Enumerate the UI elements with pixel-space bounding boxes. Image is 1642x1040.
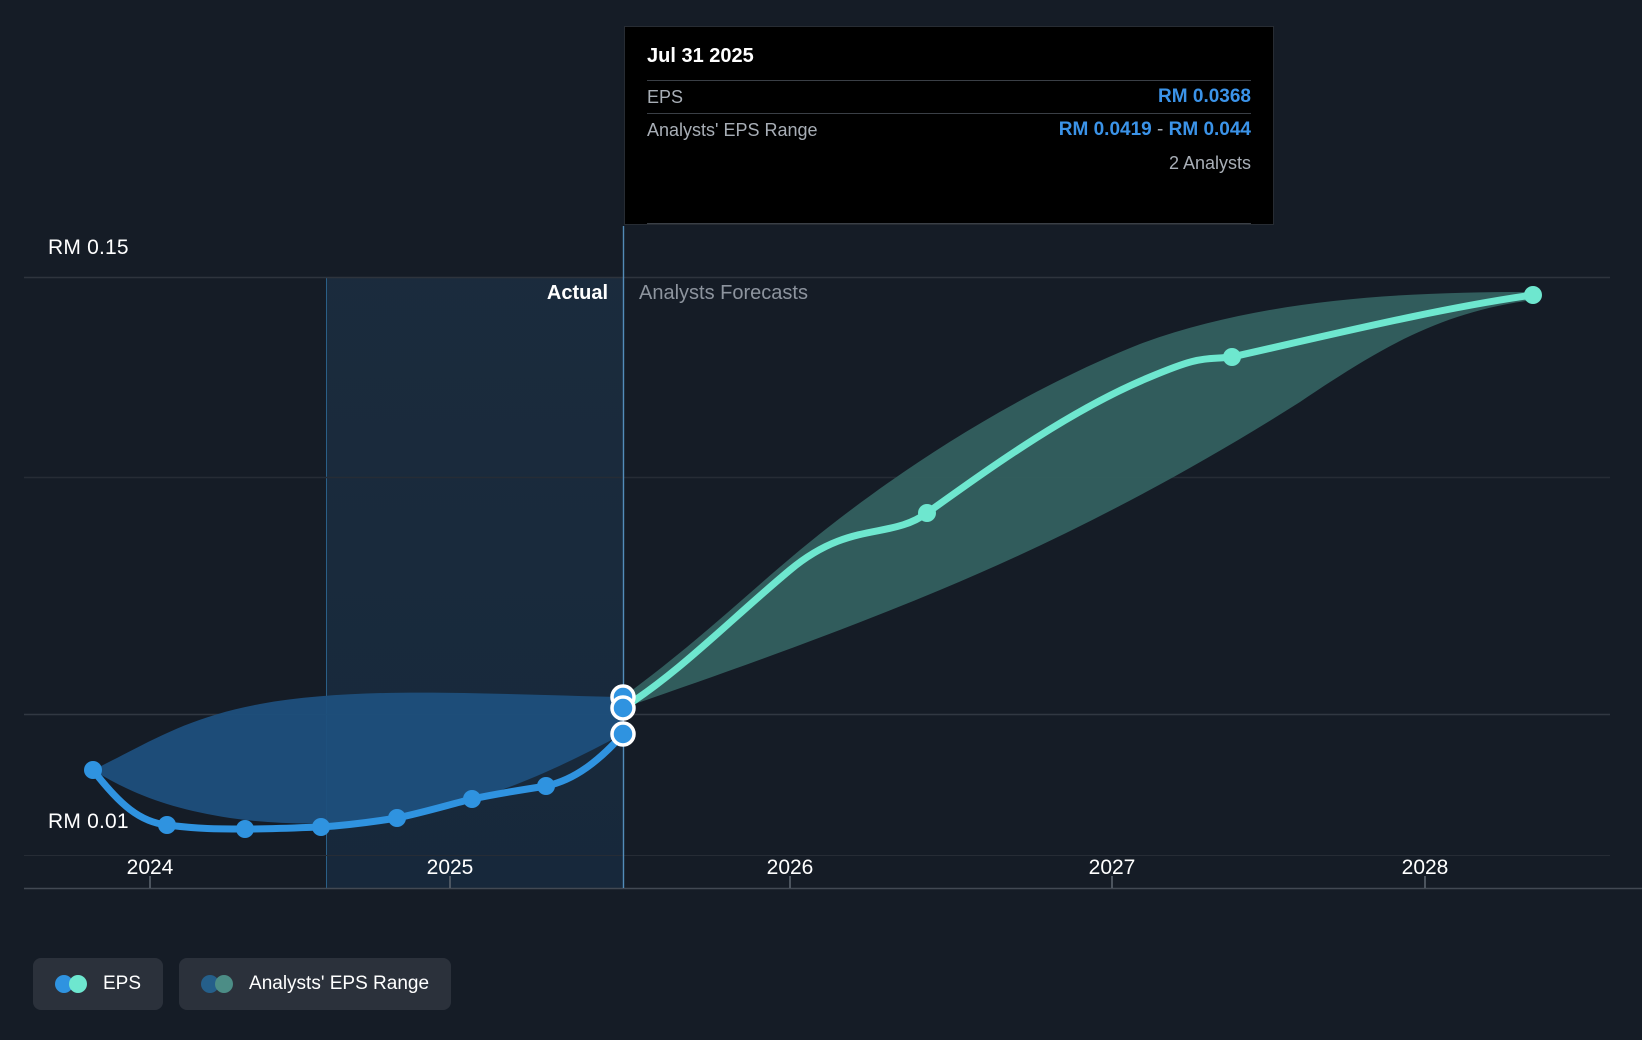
hover-highlight-points [612, 686, 634, 745]
legend-item-eps[interactable]: EPS [33, 958, 163, 1010]
tooltip-range-separator: - [1157, 119, 1163, 140]
legend-swatch-eps-icon [55, 975, 89, 993]
x-axis-tick-2025: 2025 [427, 856, 474, 880]
legend-label-eps: EPS [103, 973, 141, 995]
tooltip-range-high: RM 0.044 [1169, 119, 1251, 140]
tooltip-range-label: Analysts' EPS Range [647, 120, 818, 141]
tooltip-date: Jul 31 2025 [647, 45, 1251, 80]
tooltip-row-eps: EPS RM 0.0368 [647, 80, 1251, 113]
legend-item-analysts-range[interactable]: Analysts' EPS Range [179, 958, 451, 1010]
tooltip-range-value: RM 0.0419 - RM 0.044 [1059, 119, 1251, 141]
y-axis-label-top: RM 0.15 [48, 236, 129, 260]
tooltip-eps-label: EPS [647, 87, 683, 108]
y-axis-label-bottom: RM 0.01 [48, 810, 129, 834]
eps-forecast-chart: RM 0.15 RM 0.01 2024 2025 2026 2027 2028… [0, 0, 1642, 1040]
tooltip-row-range: Analysts' EPS Range RM 0.0419 - RM 0.044 [647, 113, 1251, 146]
hover-point-eps [612, 697, 634, 719]
x-axis-tick-2027: 2027 [1089, 856, 1136, 880]
actual-period-label: Actual [547, 282, 608, 305]
tooltip-eps-value: RM 0.0368 [1158, 86, 1251, 108]
x-axis-tick-2024: 2024 [127, 856, 174, 880]
hover-point-range-lower [612, 723, 634, 745]
x-axis-tick-2026: 2026 [767, 856, 814, 880]
chart-tooltip: Jul 31 2025 EPS RM 0.0368 Analysts' EPS … [624, 26, 1274, 225]
forecast-period-label: Analysts Forecasts [639, 282, 808, 305]
chart-legend: EPS Analysts' EPS Range [33, 958, 451, 1010]
x-axis-tick-2028: 2028 [1402, 856, 1449, 880]
forecast-range-band [623, 292, 1533, 708]
legend-label-analysts-range: Analysts' EPS Range [249, 973, 429, 995]
legend-swatch-range-icon [201, 975, 235, 993]
tooltip-range-low: RM 0.0419 [1059, 119, 1152, 140]
tooltip-analysts-count: 2 Analysts [647, 146, 1251, 174]
tooltip-bottom-rule [647, 223, 1251, 224]
